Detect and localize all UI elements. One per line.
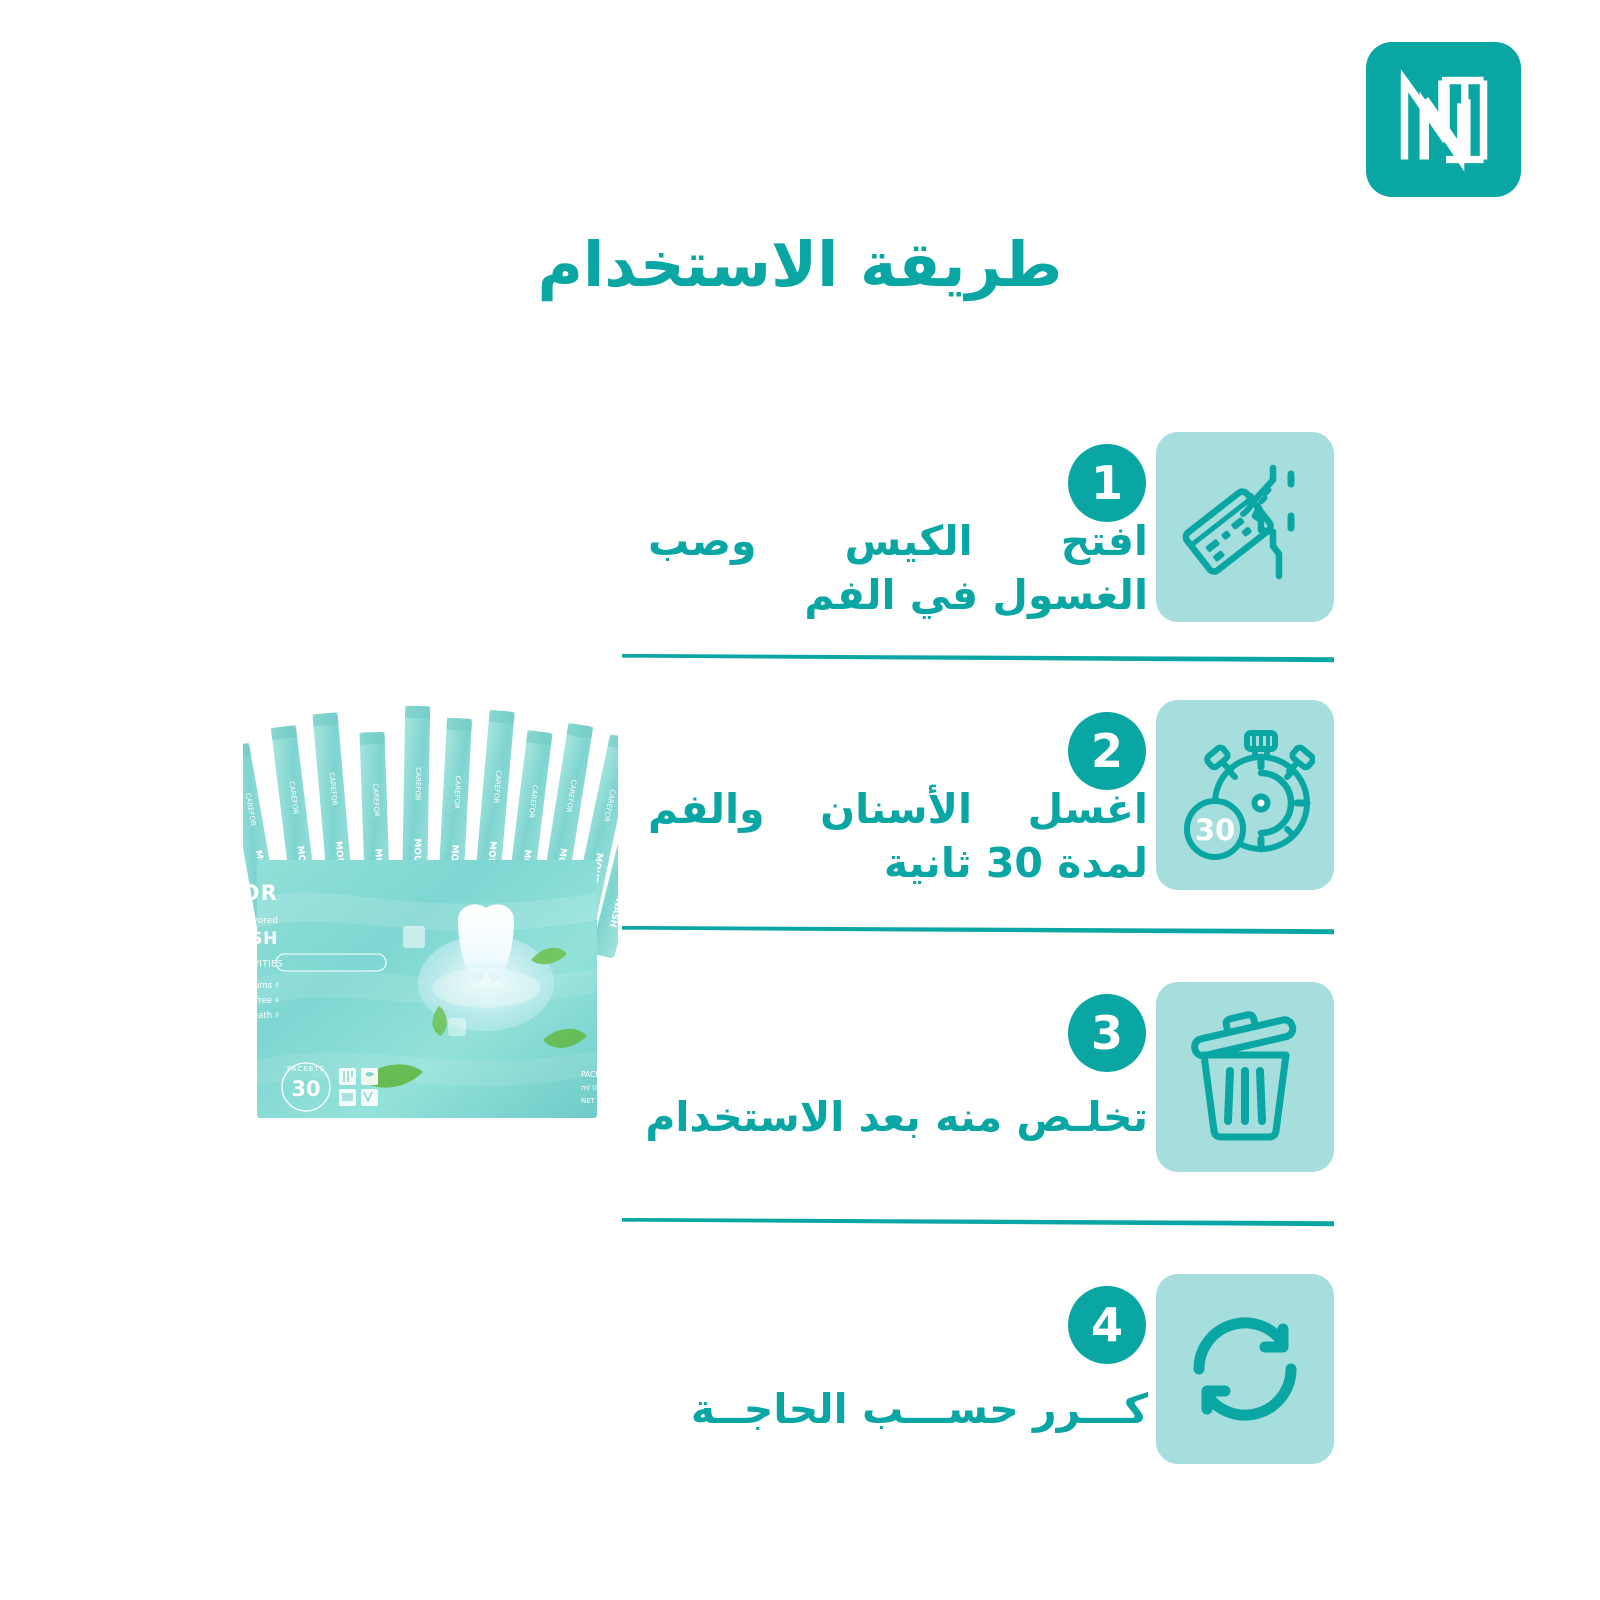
step-3-text: تخلـص منه بعد الاستخدام — [648, 1090, 1148, 1144]
spacer — [614, 936, 1334, 982]
svg-text:NET WEIGHT 360ml 12 FL OZ: NET WEIGHT 360ml 12 FL OZ — [581, 1097, 618, 1105]
step-4-number-badge: 4 — [1068, 1286, 1146, 1364]
divider-2 — [622, 926, 1334, 936]
stopwatch-30-seconds-icon: 30 — [1175, 725, 1315, 865]
step-4-text: كـــرر حســـب الحاجــة — [648, 1382, 1148, 1436]
page-title: طريقة الاستخدام — [0, 228, 1600, 301]
spacer — [614, 1172, 1334, 1218]
step-item-3: 3 تخلـص منه بعد الاستخدام — [614, 982, 1334, 1172]
spacer — [614, 622, 1334, 654]
spacer — [614, 664, 1334, 700]
svg-text:CAREFOR: CAREFOR — [371, 783, 380, 817]
svg-text:PREVENTS CAVITIES: PREVENTS CAVITIES — [243, 960, 283, 970]
svg-text:♯ Alcohol free: ♯ Alcohol free — [243, 996, 279, 1006]
spacer — [614, 890, 1334, 926]
repeat-arrows-icon — [1183, 1307, 1307, 1431]
svg-text:♯ Stronger gums: ♯ Stronger gums — [243, 981, 279, 991]
brand-logo — [1366, 42, 1521, 197]
svg-text:12 ml (0.4 FL OZ) EACH: 12 ml (0.4 FL OZ) EACH — [581, 1084, 618, 1092]
usage-steps-list: 1 افتح الكيس وصب الغسول في الفم — [614, 432, 1334, 1464]
divider-1 — [622, 654, 1334, 664]
nn-monogram-logo-icon — [1392, 68, 1496, 172]
svg-text:Fresh Mint Flavored: Fresh Mint Flavored — [243, 916, 278, 926]
svg-text:CAREFOR: CAREFOR — [414, 767, 423, 801]
svg-text:30 PACKETS: 30 PACKETS — [581, 1070, 618, 1079]
svg-text:CAREFOR: CAREFOR — [243, 881, 278, 905]
step-item-1: 1 افتح الكيس وصب الغسول في الفم — [614, 432, 1334, 622]
step-item-2: 30 2 اغسل الأسنان والفم لمدة 30 ثانية — [614, 700, 1334, 890]
sachet-pour-mouth-icon — [1181, 458, 1309, 596]
step-4-icon-tile — [1156, 1274, 1334, 1464]
step-2-text: اغسل الأسنان والفم لمدة 30 ثانية — [648, 782, 1148, 890]
trash-bin-icon — [1182, 1011, 1308, 1143]
step-3-icon-tile — [1156, 982, 1334, 1172]
step-item-4: 4 كـــرر حســـب الحاجــة — [614, 1274, 1334, 1464]
step-1-number-badge: 1 — [1068, 444, 1146, 522]
stopwatch-badge-value: 30 — [1195, 813, 1235, 847]
step-1-text: افتح الكيس وصب الغسول في الفم — [648, 514, 1148, 622]
step-3-number-badge: 3 — [1068, 994, 1146, 1072]
step-1-icon-tile — [1156, 432, 1334, 622]
step-2-number-badge: 2 — [1068, 712, 1146, 790]
svg-text:MOUTHWASH: MOUTHWASH — [243, 929, 278, 949]
divider-3 — [622, 1218, 1334, 1228]
svg-text:♯ Freshens breath: ♯ Freshens breath — [243, 1011, 279, 1021]
svg-text:30: 30 — [291, 1077, 320, 1101]
product-image: CAREFOR MOUTH WASH CAREFOR MOUTH WASH CA… — [243, 688, 618, 1118]
step-2-icon-tile: 30 — [1156, 700, 1334, 890]
spacer — [614, 1228, 1334, 1274]
svg-text:PACKETS: PACKETS — [287, 1065, 325, 1073]
